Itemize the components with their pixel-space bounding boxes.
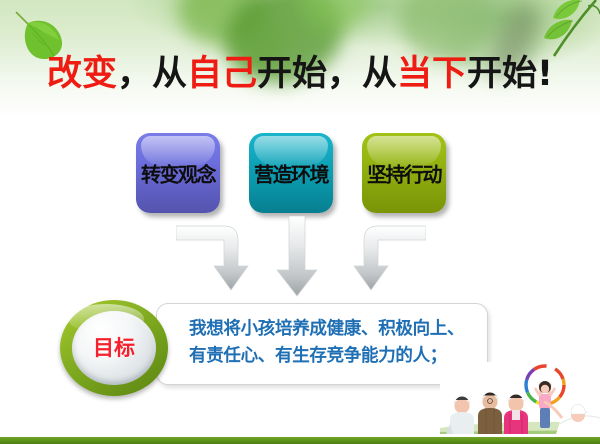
bottom-accent-strip (0, 437, 600, 444)
box-build-environment[interactable]: 营造环境 (249, 133, 333, 213)
headline-segment-4: 开始，从 (257, 54, 397, 94)
goal-statement-text: 我想将小孩培养成健康、积极向上、 有责任心、有生存竞争能力的人； (189, 316, 479, 370)
presentation-slide: 改变，从自己开始，从当下开始! 转变观念 营造环境 坚持行动 (0, 0, 600, 444)
headline-segment-3: 自己 (187, 54, 257, 94)
arrow-right (354, 226, 426, 290)
box-label: 坚持行动 (362, 159, 446, 188)
converging-arrows-group (176, 216, 426, 302)
headline-segment-5: 当下 (397, 54, 467, 94)
goal-circle-label: 目标 (72, 311, 156, 385)
box-change-mindset[interactable]: 转变观念 (136, 133, 220, 213)
goal-statement-line-1: 我想将小孩培养成健康、积极向上、 (189, 316, 479, 343)
goal-statement-panel: 我想将小孩培养成健康、积极向上、 有责任心、有生存竞争能力的人； (156, 303, 488, 385)
box-persist-action[interactable]: 坚持行动 (362, 133, 446, 213)
box-label: 转变观念 (136, 159, 220, 188)
headline-segment-1: 改变 (47, 54, 117, 94)
family-photo-illustration (440, 362, 600, 434)
box-label: 营造环境 (249, 159, 333, 188)
slide-headline: 改变，从自己开始，从当下开始! (0, 57, 600, 92)
arrows-svg (176, 216, 426, 302)
headline-segment-2: ，从 (117, 54, 187, 94)
headline-segment-6: 开始! (467, 54, 553, 94)
arrow-center (277, 216, 317, 296)
family-photo (440, 362, 600, 434)
goal-circle[interactable]: 目标 (60, 300, 168, 396)
goal-statement-line-2: 有责任心、有生存竞争能力的人； (189, 343, 479, 370)
arrow-left (176, 226, 248, 290)
